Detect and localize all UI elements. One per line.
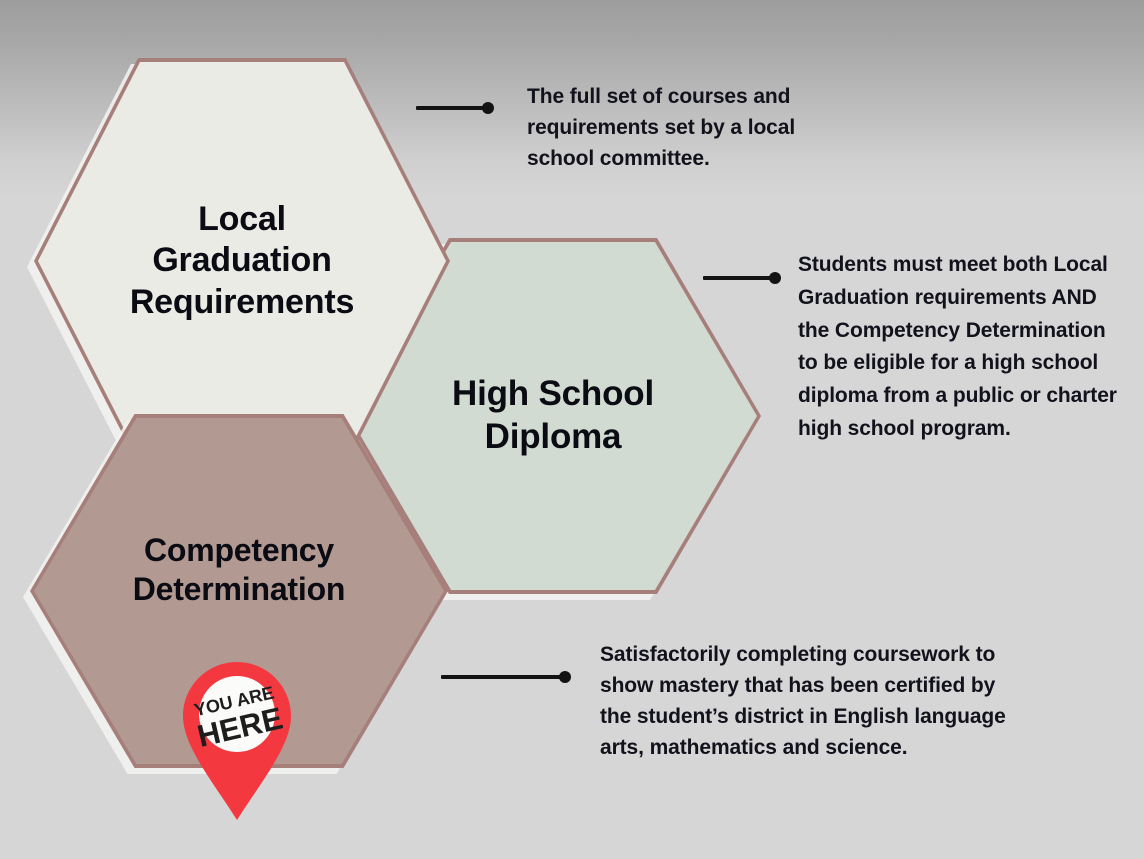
connector-line-local-graduation [416, 102, 494, 114]
connector-line-high-school-diploma [703, 272, 781, 284]
callout-text-high-school-diploma: Students must meet both Local Graduation… [798, 249, 1128, 446]
connector-stroke [441, 675, 561, 679]
connector-dot-icon [482, 102, 494, 114]
hexagon-label-local-graduation-requirements: Local Graduation Requirements [34, 58, 450, 464]
infographic-canvas: Local Graduation Requirements High Schoo… [0, 0, 1144, 859]
hexagon-local-graduation-requirements: Local Graduation Requirements [34, 58, 450, 464]
connector-dot-icon [769, 272, 781, 284]
connector-dot-icon [559, 671, 571, 683]
connector-line-competency-determination [441, 671, 571, 683]
you-are-here-pin-icon: YOU ARE HERE [183, 662, 291, 820]
connector-stroke [703, 276, 771, 280]
callout-text-competency-determination: Satisfactorily completing coursework to … [600, 639, 1010, 763]
connector-stroke [416, 106, 484, 110]
callout-text-local-graduation: The full set of courses and requirements… [527, 81, 857, 174]
